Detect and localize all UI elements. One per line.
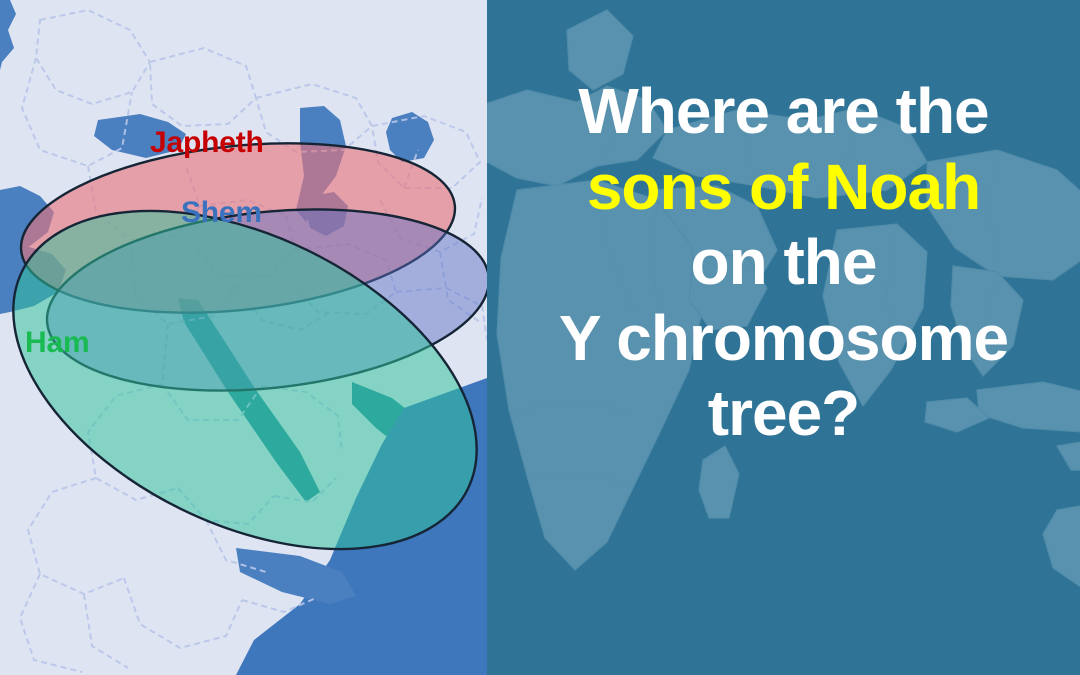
venn-label-shem: Shem [181,196,262,230]
question-text-block: Where are the sons of Noah on the Y chro… [487,74,1080,452]
question-line-2-accent: sons of Noah [487,150,1080,226]
question-panel: Where are the sons of Noah on the Y chro… [487,0,1080,675]
venn-label-japheth: Japheth [150,126,264,160]
region-map-panel: Japheth Shem Ham [0,0,487,675]
question-line-5: tree? [487,376,1080,452]
venn-label-ham: Ham [25,326,89,360]
question-line-3: on the [487,225,1080,301]
slide-canvas: Japheth Shem Ham [0,0,1080,675]
question-line-4: Y chromosome [487,301,1080,377]
question-line-1: Where are the [487,74,1080,150]
